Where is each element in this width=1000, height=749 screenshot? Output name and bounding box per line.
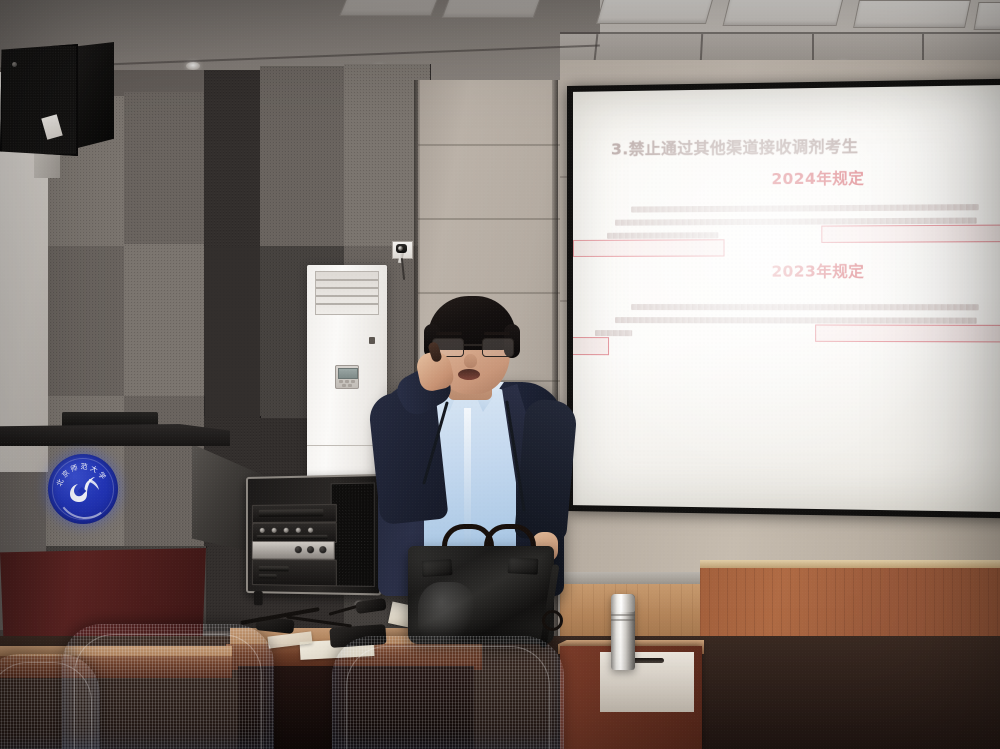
emblem-dove-icon xyxy=(65,474,101,506)
downlight-icon xyxy=(186,62,200,70)
drawer-handle[interactable] xyxy=(630,658,664,663)
rack-unit-deck[interactable] xyxy=(252,504,337,523)
bag-hardware-left xyxy=(421,559,452,577)
rack-unit-player[interactable] xyxy=(252,541,335,560)
rack-leg xyxy=(254,591,263,605)
bag-hardware-right xyxy=(508,557,539,575)
slide-text-line xyxy=(631,204,978,212)
rack-unit-amplifier[interactable] xyxy=(252,559,337,586)
ac-display xyxy=(338,368,358,379)
eyeglasses-icon xyxy=(432,338,514,356)
arm-right xyxy=(514,398,578,542)
slide-highlight-box xyxy=(573,337,609,355)
auditorium-chair xyxy=(62,624,274,749)
projection-screen-frame: 3.禁止通过其他渠道接收调剂考生 2024年规定 2023年规定 xyxy=(567,79,1000,519)
slide-heading-2024: 2024年规定 xyxy=(649,166,990,191)
ceiling-light-panel xyxy=(442,0,543,18)
slide-body-2023 xyxy=(589,304,991,337)
wall-speaker xyxy=(0,38,112,160)
slide-body-2024 xyxy=(589,204,991,239)
eyebrow-right xyxy=(484,332,510,335)
rack-case xyxy=(246,474,381,596)
ceiling-light-panel xyxy=(974,2,1000,30)
slide-heading-2023: 2023年规定 xyxy=(649,260,990,282)
ceiling-light-panel xyxy=(853,0,971,28)
projection-screen: 3.禁止通过其他渠道接收调剂考生 2024年规定 2023年规定 xyxy=(573,85,1000,512)
podium-front-face: 北京师范大学 xyxy=(0,438,198,556)
slide-text-line xyxy=(615,317,977,324)
eyebrow-left xyxy=(436,332,462,335)
university-emblem: 北京师范大学 xyxy=(48,454,118,524)
camera-lens-icon xyxy=(398,246,403,251)
rack-unit-mixer[interactable] xyxy=(252,522,337,543)
auditorium-chair xyxy=(332,636,564,749)
ceiling-light-panel xyxy=(723,0,844,26)
rack-mesh-panel xyxy=(331,482,375,587)
mouth xyxy=(458,369,480,380)
slide-text-line xyxy=(607,232,718,239)
slide-highlight-box xyxy=(573,239,725,257)
slide-highlight-box xyxy=(821,225,1000,243)
audio-equipment-rack xyxy=(246,474,377,608)
slide-title: 3.禁止通过其他渠道接收调剂考生 xyxy=(611,133,990,160)
slide-content: 3.禁止通过其他渠道接收调剂考生 2024年规定 2023年规定 xyxy=(573,133,1000,471)
handbag xyxy=(408,524,554,644)
ceiling-seam xyxy=(560,32,1000,34)
slide-text-line xyxy=(595,330,632,336)
ceiling-light-panel xyxy=(596,0,714,24)
lecture-hall-photo: 3.禁止通过其他渠道接收调剂考生 2024年规定 2023年规定 xyxy=(0,0,1000,749)
ceiling-light-panel xyxy=(339,0,441,16)
speaker-grille xyxy=(0,44,78,156)
ac-control-panel[interactable] xyxy=(335,365,359,389)
slide-highlight-box xyxy=(815,324,1000,342)
thermos-flask xyxy=(611,594,635,670)
slide-text-line xyxy=(631,304,978,310)
speaker-screw xyxy=(12,62,17,67)
thermos-cap xyxy=(611,594,635,612)
ac-vent-grille xyxy=(315,271,379,315)
bag-ring xyxy=(542,610,563,631)
nose xyxy=(464,354,477,368)
